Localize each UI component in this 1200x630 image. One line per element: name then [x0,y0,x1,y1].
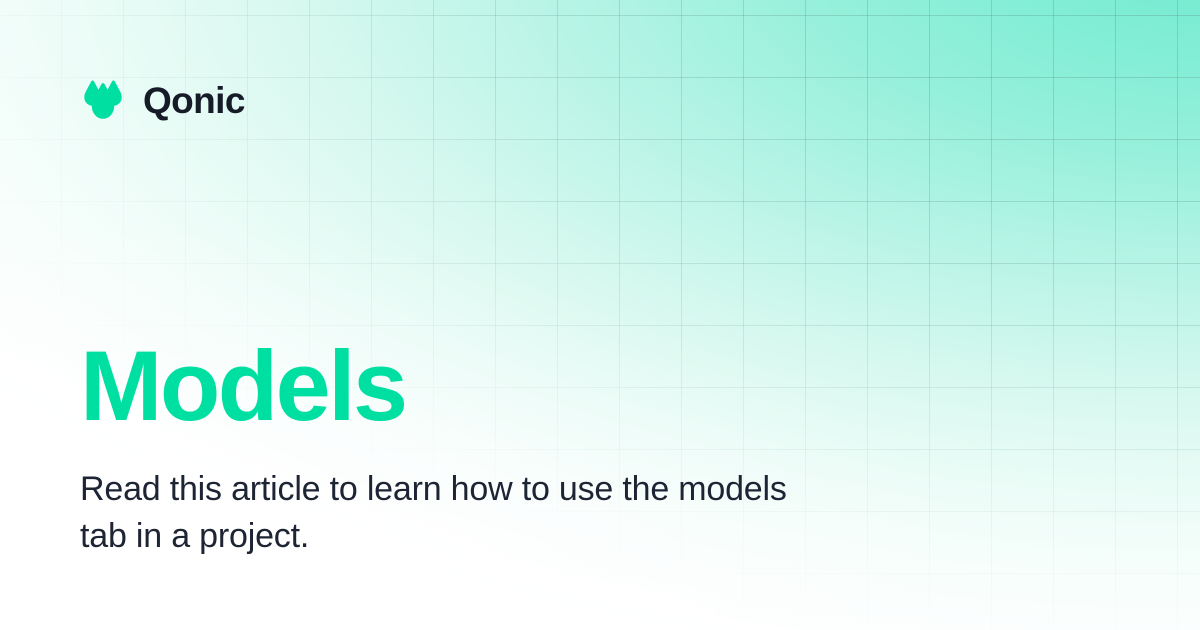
page-subtitle: Read this article to learn how to use th… [80,466,800,560]
article-hero-banner: Qonic Models Read this article to learn … [0,0,1200,630]
brand-lockup[interactable]: Qonic [80,80,245,120]
brand-name-text: Qonic [143,82,245,119]
qonic-logo-icon [80,80,126,120]
banner-content: Qonic Models Read this article to learn … [0,0,1200,630]
page-title: Models [80,336,405,435]
